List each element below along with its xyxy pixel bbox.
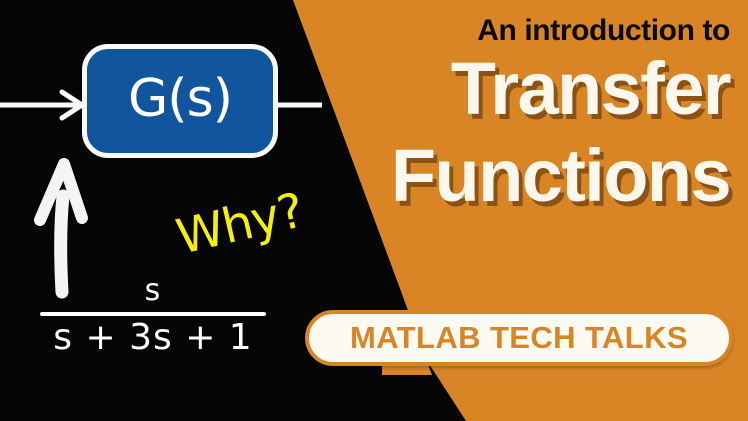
title-line-1: Transfer xyxy=(330,52,730,125)
equation-numerator: s xyxy=(40,276,266,306)
curved-arrow-head-icon xyxy=(40,164,82,220)
matlab-tech-talks-badge[interactable]: MATLAB TECH TALKS xyxy=(305,310,733,366)
transfer-function-block[interactable]: G(s) xyxy=(82,44,278,158)
equation-fraction-bar xyxy=(40,312,266,316)
title-kicker: An introduction to xyxy=(330,16,730,46)
title-line-2: Functions xyxy=(330,139,730,212)
video-thumbnail: G(s) Why? s s + 3s + 1 An introduction t… xyxy=(0,0,748,421)
matlab-tech-talks-badge-label: MATLAB TECH TALKS xyxy=(350,320,688,356)
transfer-function-block-label: G(s) xyxy=(128,69,232,129)
title-group: An introduction to Transfer Functions xyxy=(330,16,730,213)
equation-denominator: s + 3s + 1 xyxy=(40,318,266,358)
why-annotation: Why? xyxy=(171,182,308,265)
transfer-function-equation: s s + 3s + 1 xyxy=(40,276,266,358)
input-arrowhead-icon xyxy=(62,92,82,118)
